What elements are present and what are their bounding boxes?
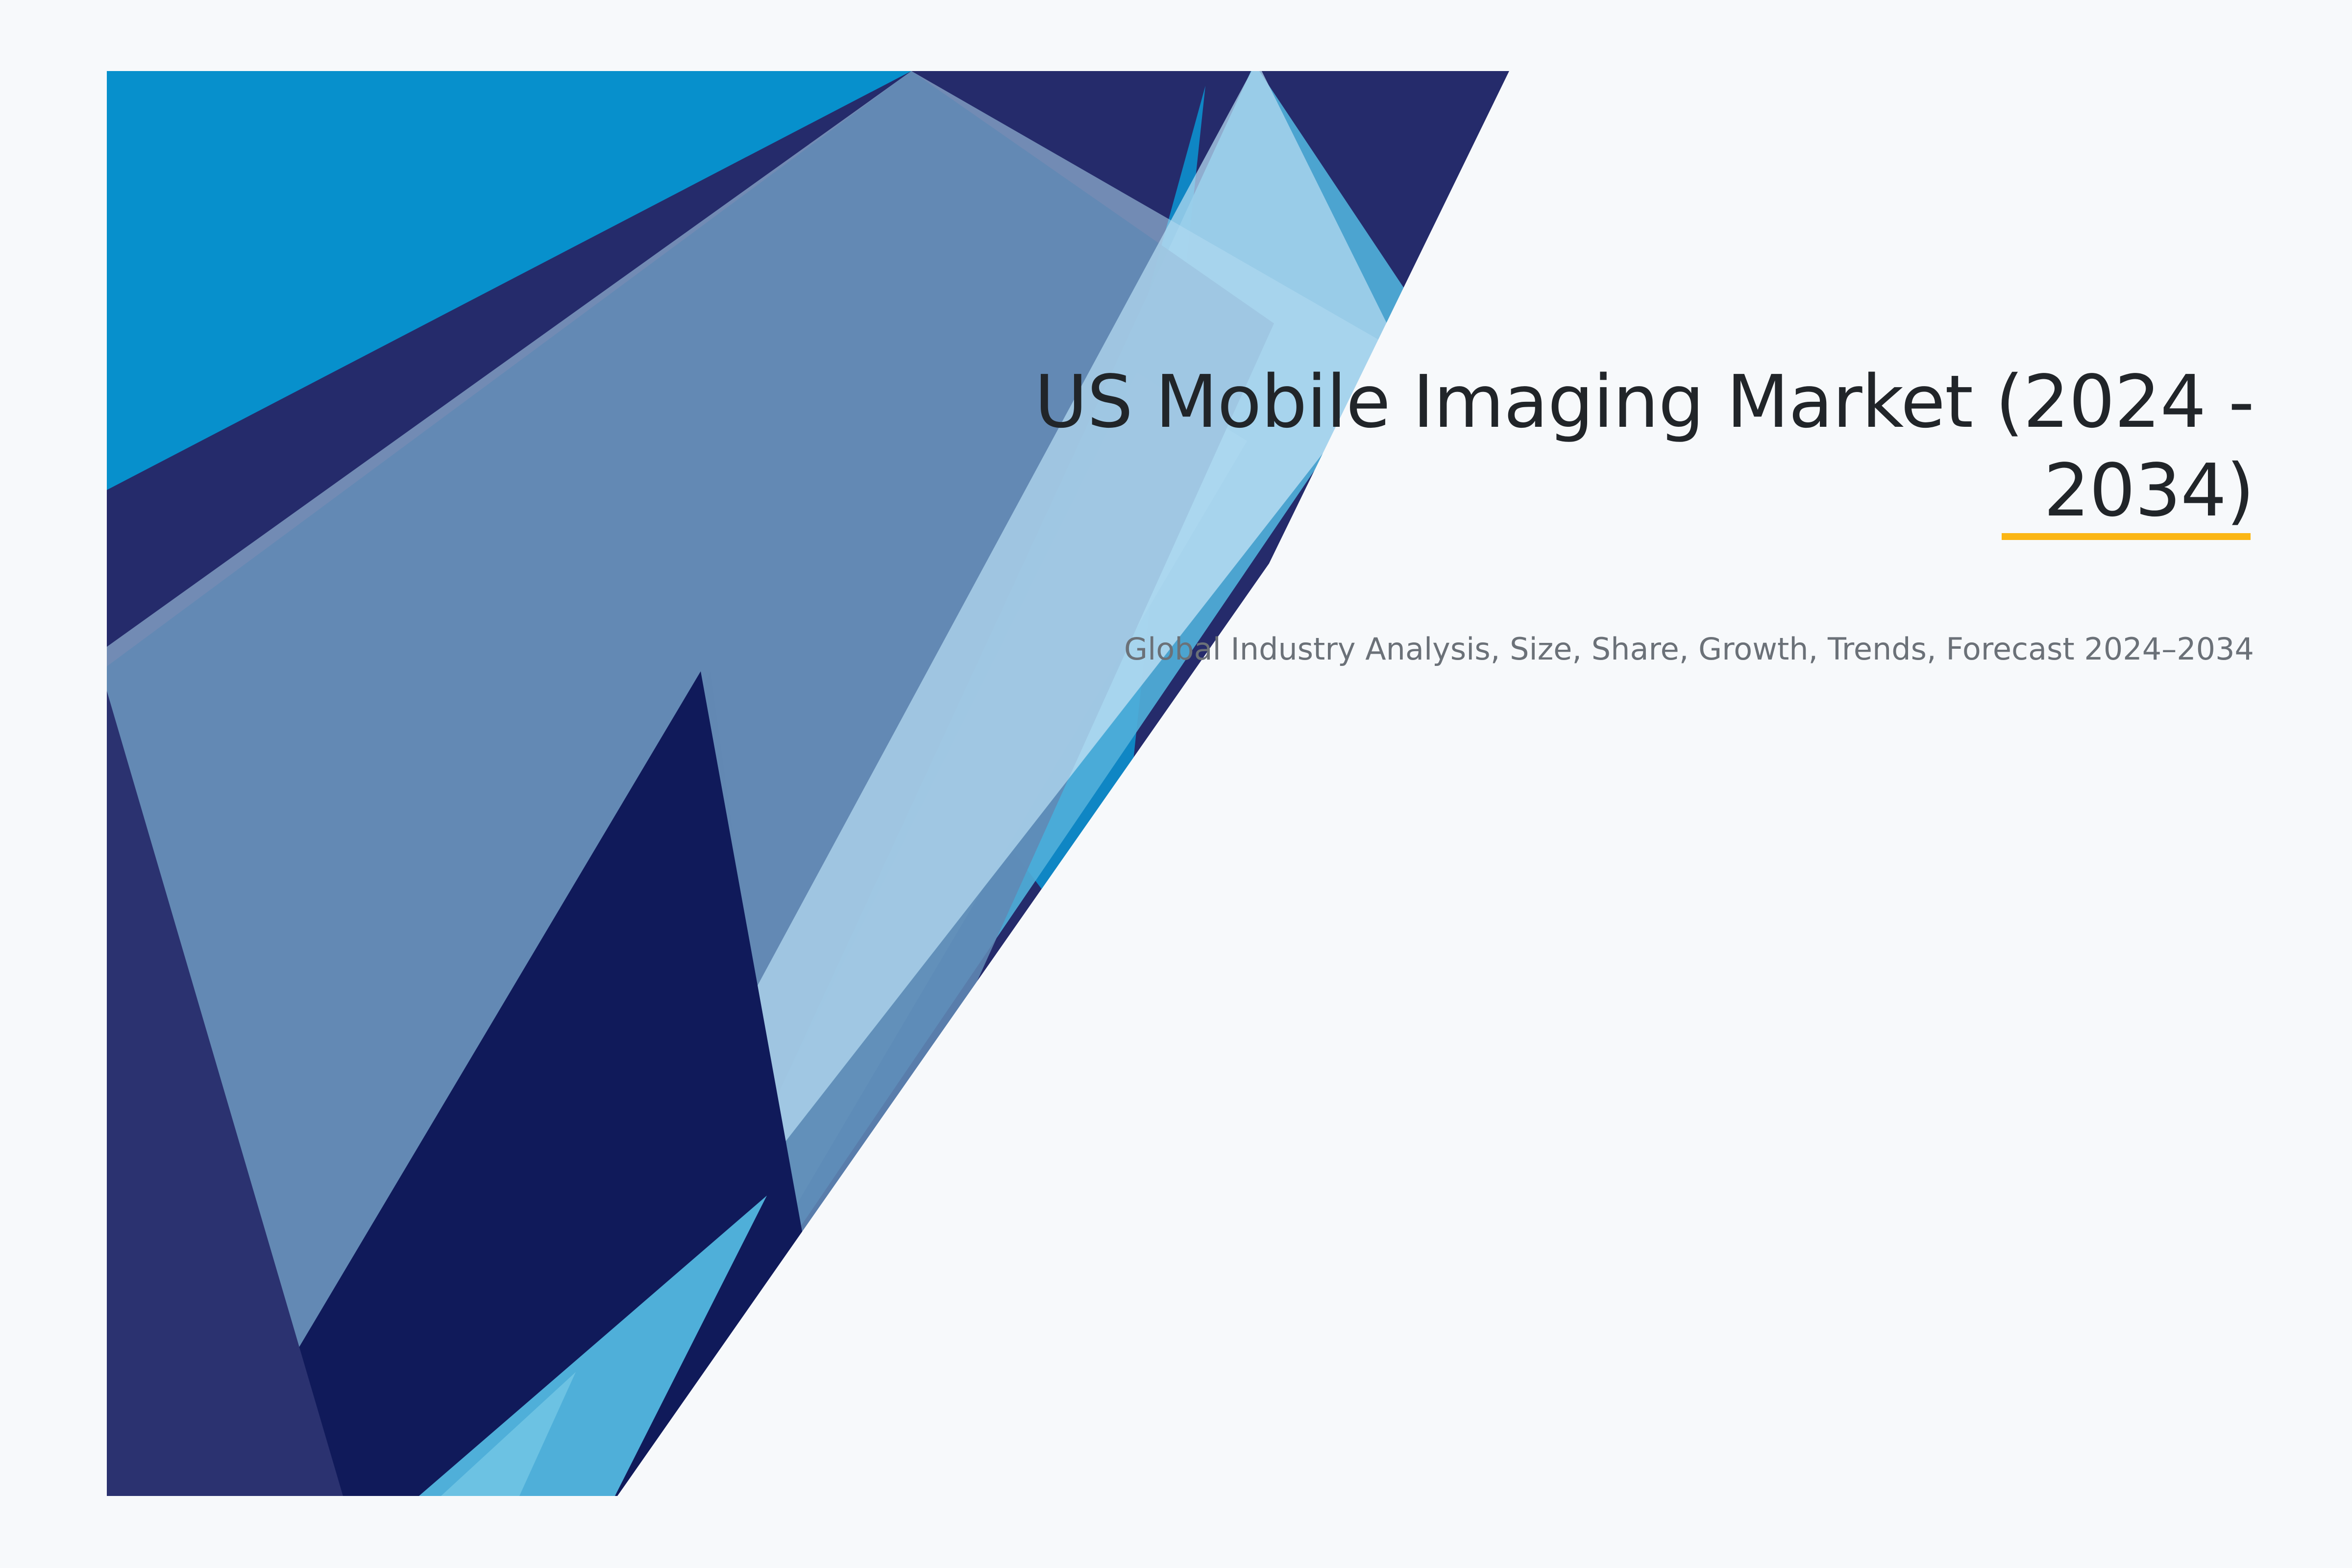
page-title: US Mobile Imaging Market (2024 - 2034) [960,358,2254,535]
page-subtitle: Global Industry Analysis, Size, Share, G… [960,535,2254,671]
slide-canvas: US Mobile Imaging Market (2024 - 2034) G… [0,0,2352,1568]
abstract-geometric-artwork [0,0,2352,1568]
cover-text-column: US Mobile Imaging Market (2024 - 2034) G… [960,358,2254,671]
title-wrap: US Mobile Imaging Market (2024 - 2034) [960,358,2254,535]
